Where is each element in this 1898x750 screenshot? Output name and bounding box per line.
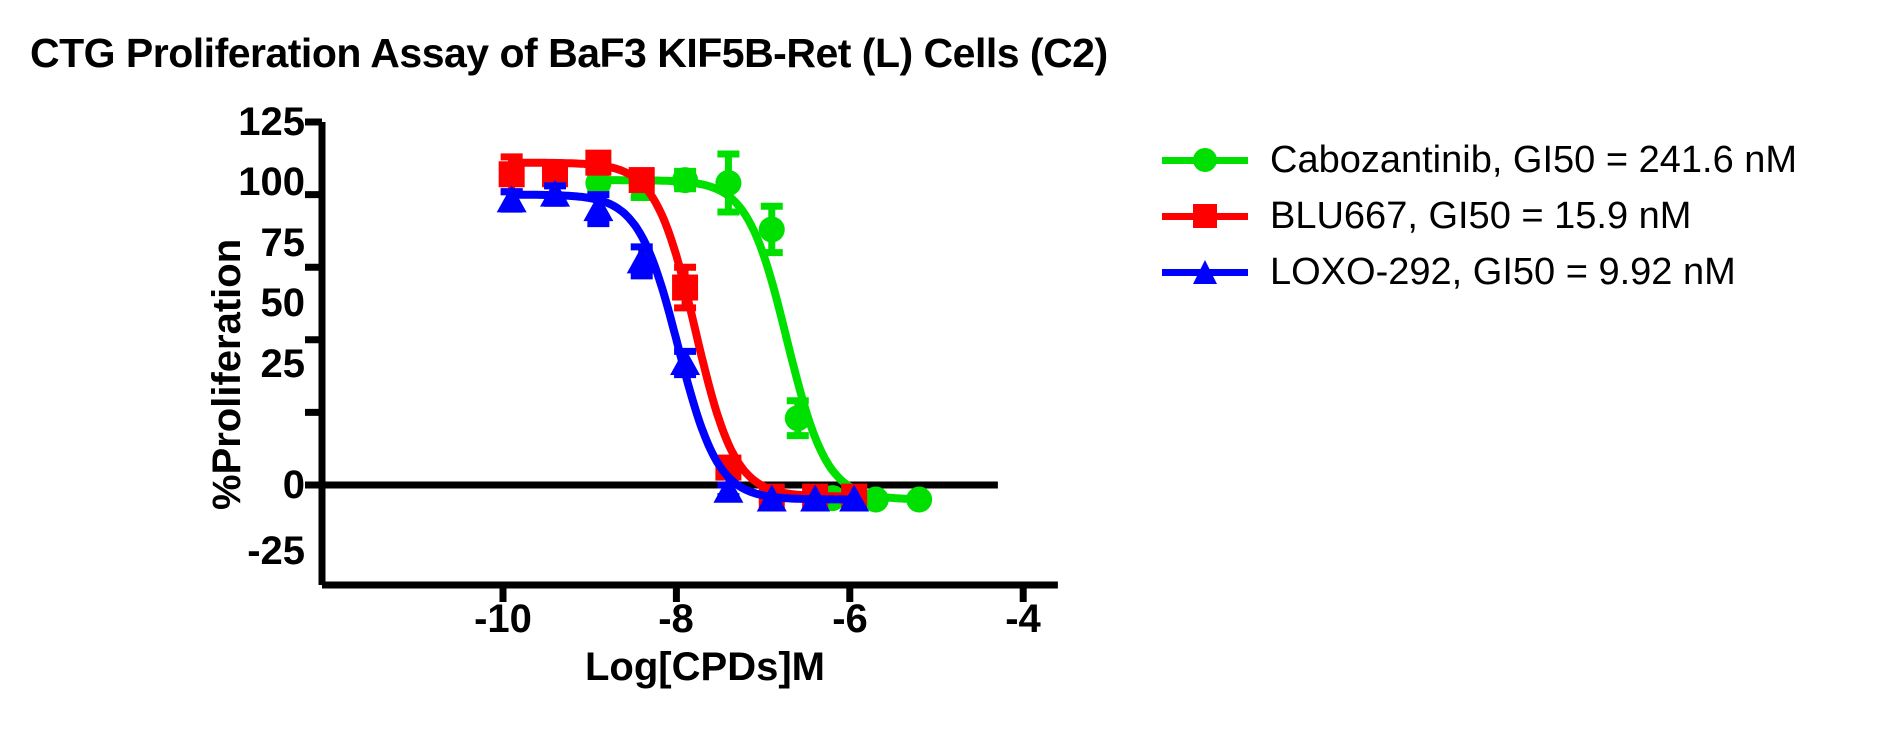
y-tick-label: 0: [200, 463, 305, 508]
legend-key-square-icon: [1162, 201, 1248, 231]
legend-label: Cabozantinib, GI50 = 241.6 nM: [1270, 139, 1797, 182]
legend-item-loxo292[interactable]: LOXO-292, GI50 = 9.92 nM: [1162, 248, 1797, 296]
series-group: [497, 150, 932, 513]
x-tick-label: -8: [616, 597, 736, 642]
y-tick-label: 125: [200, 100, 305, 145]
y-tick-label: 50: [200, 281, 305, 326]
legend-item-blu667[interactable]: BLU667, GI50 = 15.9 nM: [1162, 192, 1797, 240]
y-tick-label: 100: [200, 160, 305, 205]
y-tick-label: -25: [180, 529, 305, 574]
y-tick-label: 25: [200, 342, 305, 387]
legend-label: LOXO-292, GI50 = 9.92 nM: [1270, 251, 1736, 294]
x-tick-label: -6: [790, 597, 910, 642]
legend-label: BLU667, GI50 = 15.9 nM: [1270, 195, 1691, 238]
chart-page: CTG Proliferation Assay of BaF3 KIF5B-Re…: [0, 0, 1898, 750]
series-loxo-292: [497, 180, 869, 512]
chart-legend: Cabozantinib, GI50 = 241.6 nM BLU667, GI…: [1162, 136, 1797, 304]
x-tick-label: -4: [963, 597, 1083, 642]
y-tick-label: 75: [200, 221, 305, 266]
series-cabozantinib: [585, 154, 932, 513]
legend-item-cabozantinib[interactable]: Cabozantinib, GI50 = 241.6 nM: [1162, 136, 1797, 184]
legend-key-triangle-icon: [1162, 257, 1248, 287]
x-tick-label: -10: [443, 597, 563, 642]
legend-key-circle-icon: [1162, 145, 1248, 175]
x-axis-title: Log[CPDs]M: [585, 645, 825, 690]
